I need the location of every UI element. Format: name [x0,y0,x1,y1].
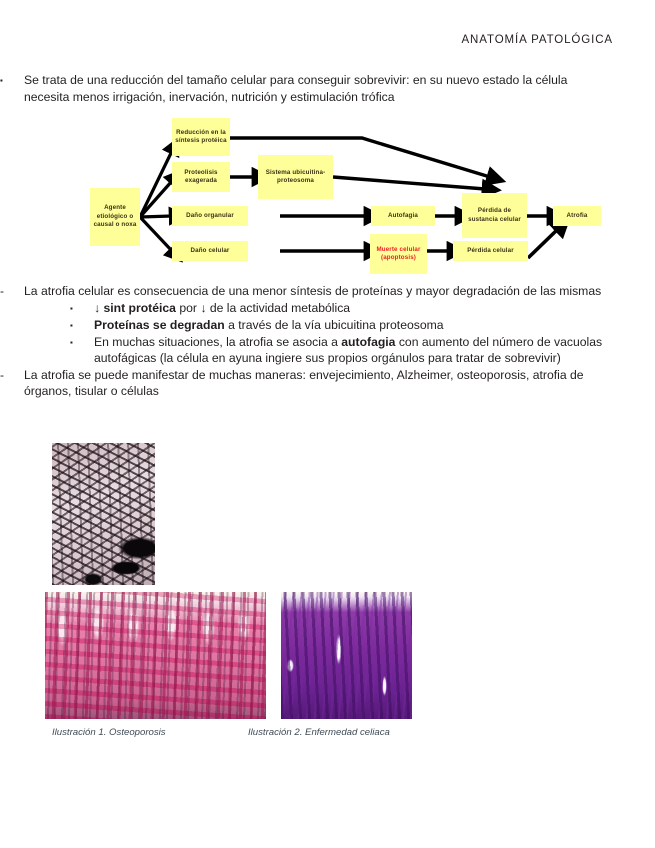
bullet-part-a: En muchas situaciones, la atrofia se aso… [94,335,341,349]
page-header: ANATOMÍA PATOLÓGICA [461,34,613,46]
atrophy-flow-diagram: Agente etiológico o causal o noxa Reducc… [90,115,610,280]
node-atrofia: Atrofia [553,206,601,226]
bullet-bold: ↓ sint protéica [94,301,176,315]
node-muerte-celular: Muerte celular (apoptosis) [370,234,427,274]
bullet-marker: ▪ [70,334,94,351]
bullet-bold: Proteínas se degradan [94,318,225,332]
node-perdida-celular: Pérdida celular [453,241,528,261]
node-autofagia: Autofagia [371,206,435,226]
bullet-text: Proteínas se degradan a través de la vía… [94,317,615,334]
bullet-rest: por ↓ de la actividad metabólica [176,301,350,315]
bullet-text: La atrofia celular es consecuencia de un… [24,283,615,300]
bullet-text: En muchas situaciones, la atrofia se aso… [94,334,615,367]
node-dano-celular: Daño celular [172,241,248,261]
bullet-text: ↓ sint protéica por ↓ de la actividad me… [94,300,615,317]
bullet-bold: autofagia [341,335,395,349]
node-sistema-ubicuitina: Sistema ubicuitina-proteosoma [258,155,333,199]
bullet-marker: - [0,367,24,384]
node-reduccion: Reducción en la síntesis protéica [172,118,230,156]
bullet-marker: ▪ [0,72,24,89]
list-item: ▪ Se trata de una reducción del tamaño c… [0,72,655,105]
bullet-marker: ▪ [70,317,94,334]
figure-celiac-purple-image [281,592,412,719]
bullet-text: Se trata de una reducción del tamaño cel… [24,72,615,105]
diagram-arrows [90,115,610,280]
list-item: ▪ Proteínas se degradan a través de la v… [0,317,655,334]
node-perdida-sustancia: Pérdida de sustancia celular [462,193,527,238]
list-item: ▪ En muchas situaciones, la atrofia se a… [0,334,655,367]
figure-osteoporosis-image [52,443,155,585]
caption-celiac: Ilustración 2. Enfermedad celiaca [248,727,390,738]
figure-celiac-he-image [45,592,266,719]
bullet-text: La atrofia se puede manifestar de muchas… [24,367,615,400]
node-agente: Agente etiológico o causal o noxa [90,188,140,246]
bullet-marker: ▪ [70,300,94,317]
node-dano-organular: Daño organular [172,206,248,226]
list-item: ▪ ↓ sint protéica por ↓ de la actividad … [0,300,655,317]
list-item: - La atrofia se puede manifestar de much… [0,367,655,400]
node-proteolisis: Proteolisis exagerada [172,162,230,192]
bullet-rest: a través de la vía ubicuitina proteosoma [225,318,444,332]
bullet-marker: - [0,283,24,300]
caption-osteoporosis: Ilustración 1. Osteoporosis [52,727,166,738]
list-item: - La atrofia celular es consecuencia de … [0,283,655,300]
